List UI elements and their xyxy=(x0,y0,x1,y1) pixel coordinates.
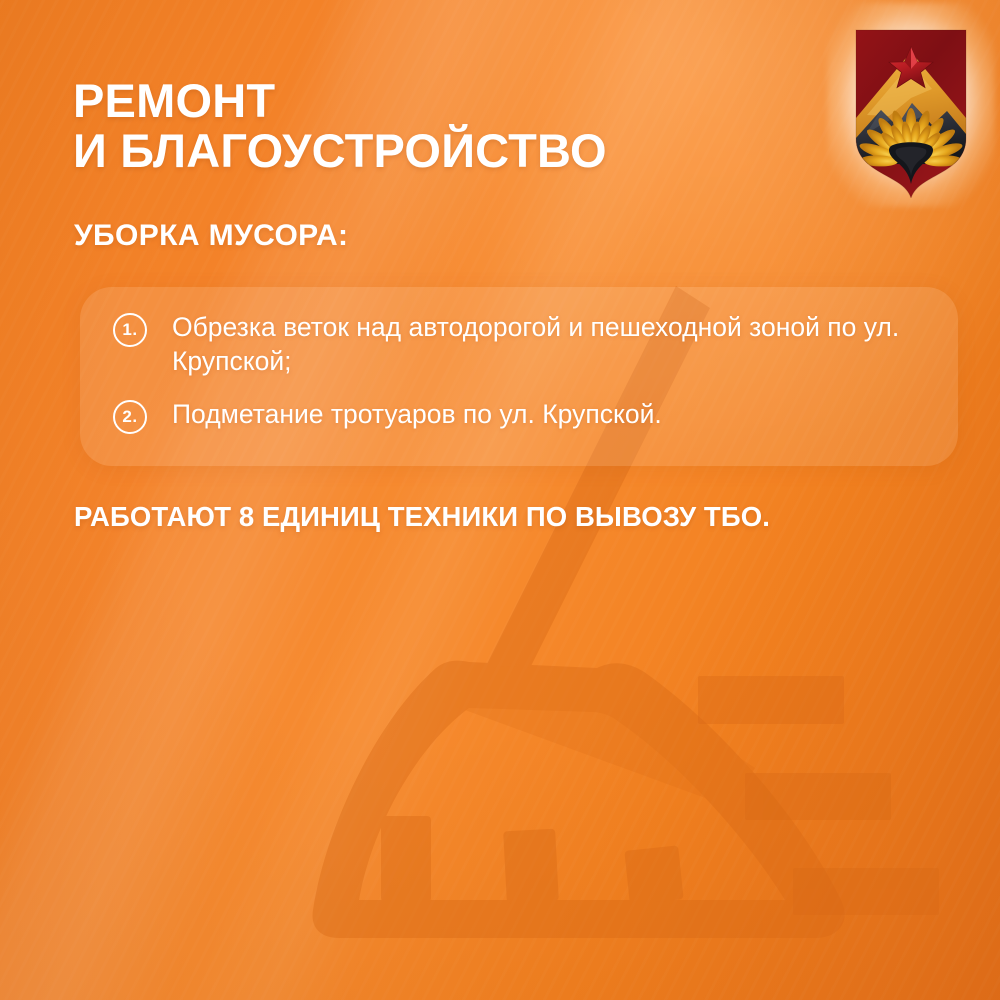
list-item: 1. Обрезка веток над автодорогой и пешех… xyxy=(113,310,943,379)
footer-note: РАБОТАЮТ 8 ЕДИНИЦ ТЕХНИКИ ПО ВЫВОЗУ ТБО. xyxy=(74,501,770,533)
poster-canvas: РЕМОНТ И БЛАГОУСТРОЙСТВО УБОРКА МУСОРА: … xyxy=(0,0,1000,1000)
section-subtitle: УБОРКА МУСОРА: xyxy=(74,219,348,253)
task-list: 1. Обрезка веток над автодорогой и пешех… xyxy=(113,310,943,434)
page-title: РЕМОНТ И БЛАГОУСТРОЙСТВО xyxy=(73,76,607,176)
list-item-number-badge: 1. xyxy=(113,313,147,347)
list-item-text: Обрезка веток над автодорогой и пешеходн… xyxy=(172,310,943,379)
list-item: 2. Подметание тротуаров по ул. Крупской. xyxy=(113,397,943,434)
poster-content: РЕМОНТ И БЛАГОУСТРОЙСТВО УБОРКА МУСОРА: … xyxy=(0,0,1000,1000)
list-item-text: Подметание тротуаров по ул. Крупской. xyxy=(172,397,662,431)
list-item-number-badge: 2. xyxy=(113,400,147,434)
